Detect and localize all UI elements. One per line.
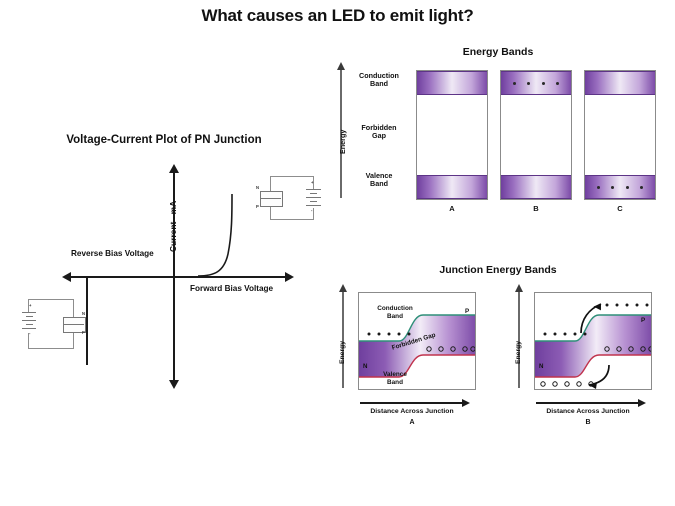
electron-dot <box>527 82 530 85</box>
energy-bands-axis-label: Energy <box>338 130 347 154</box>
battery-plate-short-2 <box>26 324 33 325</box>
junction-b-p-label: P <box>641 317 645 324</box>
battery-plate-short-2 <box>310 201 317 202</box>
tier-label-valence-band-text: ValenceBand <box>366 171 393 188</box>
electron-dot <box>626 186 629 189</box>
diode-p-label: P <box>82 331 85 335</box>
conduction-band-b <box>501 71 571 95</box>
electron-dot <box>542 82 545 85</box>
page-title: What causes an LED to emit light? <box>0 6 675 26</box>
battery-minus-label: - <box>29 332 30 336</box>
diode-p-label: P <box>256 205 259 209</box>
diode-n-label: N <box>82 312 85 316</box>
valence-electrons-a <box>417 176 487 198</box>
electron-dot <box>513 82 516 85</box>
vi-x-axis-arrow-left <box>62 272 71 282</box>
junction-plot-b: N P <box>534 292 652 390</box>
junction-a-x-axis-arrow <box>462 399 470 407</box>
electron-dot <box>611 186 614 189</box>
reverse-bias-circuit: + - N P <box>20 295 88 353</box>
battery-plus-label: + <box>29 304 31 308</box>
valence-band-b <box>501 175 571 199</box>
junction-energy-bands-diagram: Junction Energy Bands Energy <box>328 264 668 439</box>
diode-symbol <box>260 191 283 207</box>
vi-x-axis <box>70 276 285 278</box>
valence-band-c <box>585 175 655 199</box>
voltage-current-plot: Voltage-Current Plot of PN Junction Curr… <box>8 130 320 390</box>
slide-root: What causes an LED to emit light? Voltag… <box>0 0 675 506</box>
junction-a-valence-label: ValenceBand <box>367 371 423 386</box>
tier-label-valence-band: ValenceBand <box>350 172 408 189</box>
energy-bands-axis-arrow <box>337 62 345 70</box>
junction-b-caption: B <box>524 419 652 426</box>
energy-band-caption-b: B <box>500 204 572 213</box>
tier-label-conduction-band: ConductionBand <box>350 72 408 89</box>
electron-dot <box>640 186 643 189</box>
junction-a-n-label: N <box>363 363 367 370</box>
junction-b-x-axis <box>536 402 640 404</box>
vi-forward-bias-label: Forward Bias Voltage <box>190 284 273 293</box>
battery-plate-short-1 <box>310 193 317 194</box>
junction-a-energy-label: Energy <box>339 341 346 364</box>
junction-b-energy-axis-arrow <box>515 284 523 292</box>
energy-bands-title: Energy Bands <box>328 46 668 58</box>
junction-b-x-axis-label: Distance Across Junction <box>524 408 652 415</box>
battery-plate-long-3 <box>306 205 321 206</box>
battery-minus-label: - <box>311 209 312 213</box>
battery-plate-long-2 <box>306 197 321 198</box>
junction-b-energy-label: Energy <box>515 341 522 364</box>
valence-electrons-c <box>585 176 655 198</box>
conduction-band-c <box>585 71 655 95</box>
battery-plate-short-1 <box>26 316 33 317</box>
energy-band-caption-a: A <box>416 204 488 213</box>
electron-dot <box>597 186 600 189</box>
junction-bands-title: Junction Energy Bands <box>328 264 668 276</box>
battery-plate-long-2 <box>22 320 36 321</box>
valence-band-a <box>417 175 487 199</box>
battery-plus-label: + <box>311 181 313 185</box>
battery-plate-long-3 <box>22 328 36 329</box>
vi-x-axis-arrow-right <box>285 272 294 282</box>
junction-b-carriers <box>535 293 652 390</box>
tier-label-forbidden-gap-text: ForbiddenGap <box>361 123 396 140</box>
vi-y-axis-arrow-up <box>169 164 179 173</box>
junction-a-x-axis-label: Distance Across Junction <box>348 408 476 415</box>
junction-a-x-axis <box>360 402 464 404</box>
electron-dot <box>556 82 559 85</box>
diode-n-label: N <box>256 186 259 190</box>
vi-y-axis-arrow-down <box>169 380 179 389</box>
battery-plate-long-1 <box>22 312 36 313</box>
energy-bands-diagram: Energy Bands Energy ConductionBand Forbi… <box>328 46 668 231</box>
energy-band-caption-c: C <box>584 204 656 213</box>
conduction-electrons-c <box>585 72 655 94</box>
battery-plate-long-1 <box>306 189 321 190</box>
vi-plot-title: Voltage-Current Plot of PN Junction <box>8 134 320 146</box>
energy-band-column-a <box>416 70 488 200</box>
energy-band-column-c <box>584 70 656 200</box>
junction-b-n-label: N <box>539 363 543 370</box>
conduction-electrons-b <box>501 72 571 94</box>
tier-label-conduction-band-text: ConductionBand <box>359 71 399 88</box>
junction-b-x-axis-arrow <box>638 399 646 407</box>
vi-reverse-bias-label: Reverse Bias Voltage <box>71 249 154 258</box>
junction-a-p-label: P <box>465 308 469 315</box>
valence-electrons-b <box>501 176 571 198</box>
energy-band-column-b <box>500 70 572 200</box>
conduction-electrons-a <box>417 72 487 94</box>
junction-a-energy-axis-arrow <box>339 284 347 292</box>
junction-plot-a: ConductionBand ValenceBand N P Forbidden… <box>358 292 476 390</box>
vi-y-axis-label: Current - mA <box>168 201 178 252</box>
junction-a-conduction-label: ConductionBand <box>367 305 423 320</box>
conduction-band-a <box>417 71 487 95</box>
forward-bias-circuit: N P + - <box>255 172 317 224</box>
tier-label-forbidden-gap: ForbiddenGap <box>350 124 408 141</box>
junction-a-caption: A <box>348 419 476 426</box>
